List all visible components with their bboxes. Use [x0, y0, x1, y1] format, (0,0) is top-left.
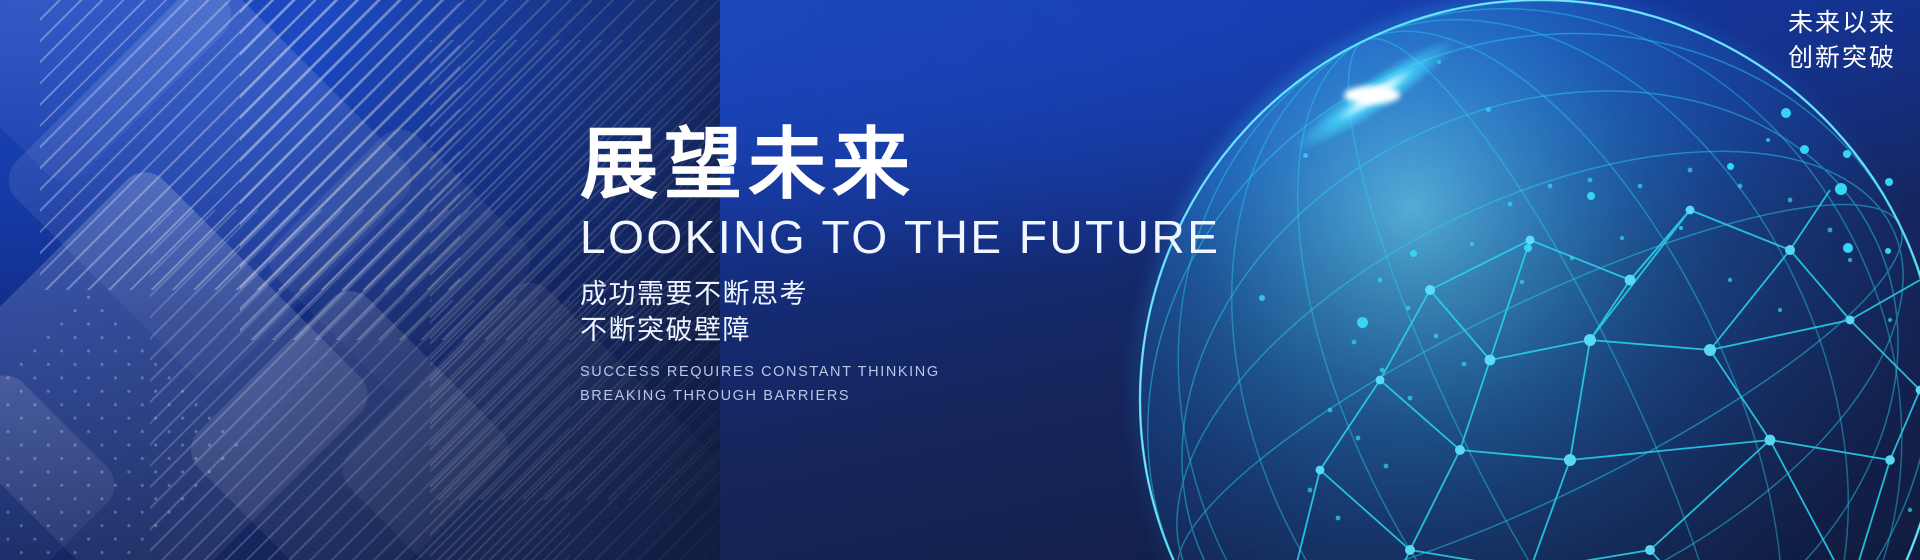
decor-diagonal-stripes — [40, 0, 460, 290]
particle-dot — [1410, 250, 1417, 257]
decor-diamond-shape — [0, 0, 242, 192]
decor-diamond-shape — [0, 365, 125, 560]
globe-glow — [1130, 0, 1920, 560]
promotional-banner: 未来以来 创新突破 展望未来 LOOKING TO THE FUTURE 成功需… — [0, 0, 1920, 560]
wireframe-globe-icon — [1130, 0, 1920, 560]
particle-dot — [1843, 150, 1851, 158]
corner-slogan: 未来以来 创新突破 — [1788, 6, 1896, 75]
particle-dot — [1524, 244, 1532, 252]
decor-diamond-shape — [180, 280, 519, 560]
particle-dot — [1835, 183, 1847, 195]
particle-dot — [1303, 153, 1308, 158]
particle-dot — [1781, 108, 1791, 118]
decor-diagonal-stripes — [150, 210, 570, 560]
particle-dot — [1357, 317, 1368, 328]
corner-slogan-line-2: 创新突破 — [1788, 41, 1896, 76]
particle-dot — [1885, 178, 1893, 186]
page-title: 展望未来 — [580, 125, 1200, 203]
decor-dot-grid — [0, 284, 251, 560]
particle-dot — [1437, 60, 1441, 64]
subtitle-en-line-2: BREAKING THROUGH BARRIERS — [580, 384, 1200, 409]
corner-slogan-line-1: 未来以来 — [1788, 6, 1896, 41]
particle-dot — [1486, 107, 1491, 112]
page-title-english: LOOKING TO THE FUTURE — [580, 213, 1200, 261]
particle-dot — [1843, 243, 1853, 253]
decor-diamond-shape — [0, 0, 422, 392]
particle-dot — [1885, 248, 1891, 254]
subtitle-en-line-1: SUCCESS REQUIRES CONSTANT THINKING — [580, 360, 1200, 385]
subtitle-en-block: SUCCESS REQUIRES CONSTANT THINKING BREAK… — [580, 360, 1200, 410]
globe-flare-core — [1344, 86, 1400, 104]
particle-dot — [1679, 226, 1683, 230]
particle-dot — [1587, 192, 1595, 200]
particle-dot — [1727, 163, 1734, 170]
particle-dot — [1766, 138, 1770, 142]
particle-dot — [1259, 295, 1265, 301]
decor-diamond-shape — [259, 119, 542, 402]
subtitle-cn-line-1: 成功需要不断思考 — [580, 277, 1200, 313]
decor-diamond-shape — [0, 162, 378, 560]
headline-block: 展望未来 LOOKING TO THE FUTURE 成功需要不断思考 不断突破… — [580, 125, 1200, 409]
subtitle-cn-line-2: 不断突破壁障 — [580, 313, 1200, 349]
globe-lens-flare — [1287, 28, 1464, 162]
particle-dot — [1800, 145, 1809, 154]
